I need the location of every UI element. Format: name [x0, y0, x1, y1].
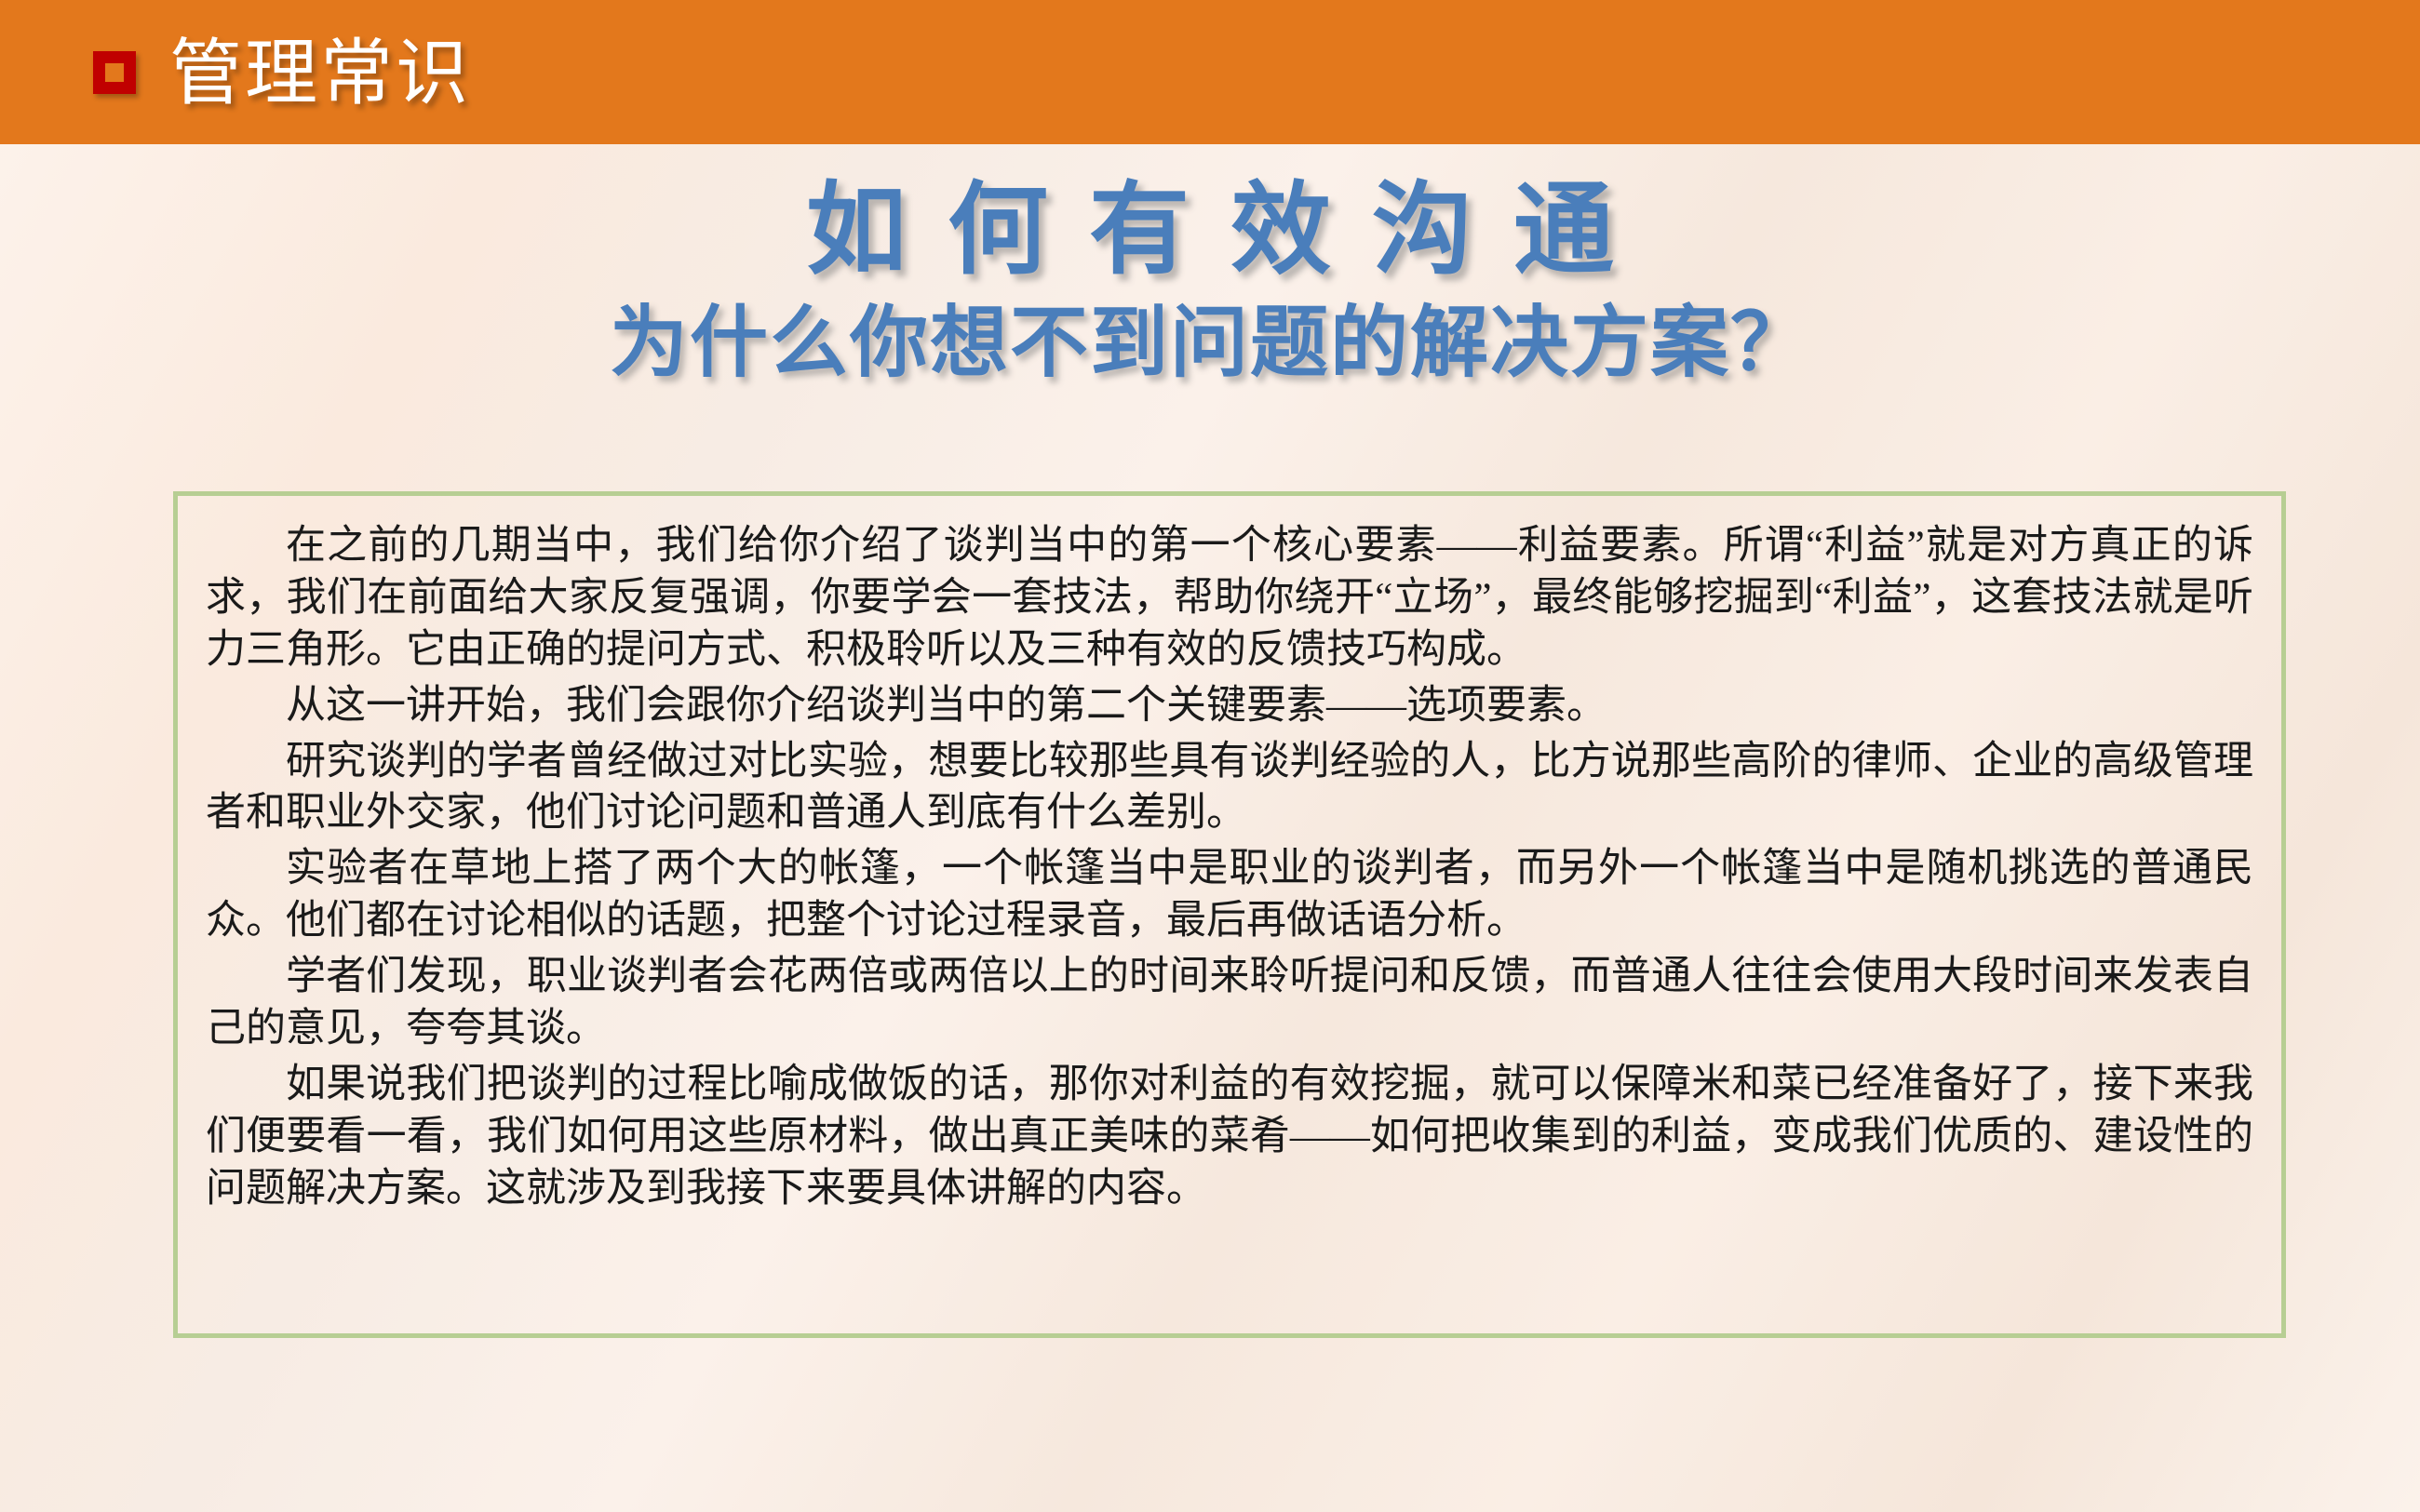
red-square-bullet-icon	[93, 51, 136, 94]
slide: 管理常识 如何有效沟通 为什么你想不到问题的解决方案？ 在之前的几期当中，我们给…	[0, 0, 2420, 1512]
page-title: 如何有效沟通	[0, 172, 2420, 290]
paragraph: 如果说我们把谈判的过程比喻成做饭的话，那你对利益的有效挖掘，就可以保障米和菜已经…	[206, 1059, 2253, 1215]
content-box: 在之前的几期当中，我们给你介绍了谈判当中的第一个核心要素——利益要素。所谓“利益…	[173, 491, 2286, 1338]
title-block: 如何有效沟通 为什么你想不到问题的解决方案？	[0, 172, 2420, 390]
page-subtitle: 为什么你想不到问题的解决方案？	[0, 296, 2420, 390]
header-inner: 管理常识	[93, 0, 471, 144]
paragraph: 在之前的几期当中，我们给你介绍了谈判当中的第一个核心要素——利益要素。所谓“利益…	[206, 520, 2253, 676]
paragraph: 学者们发现，职业谈判者会花两倍或两倍以上的时间来聆听提问和反馈，而普通人往往会使…	[206, 951, 2253, 1055]
paragraph: 实验者在草地上搭了两个大的帐篷，一个帐篷当中是职业的谈判者，而另外一个帐篷当中是…	[206, 843, 2253, 947]
header-bar: 管理常识	[0, 0, 2420, 144]
header-title: 管理常识	[169, 36, 471, 109]
paragraph: 研究谈判的学者曾经做过对比实验，想要比较那些具有谈判经验的人，比方说那些高阶的律…	[206, 736, 2253, 840]
footer: 山东大成生物化工有限公司	[0, 1360, 2420, 1512]
paragraph: 从这一讲开始，我们会跟你介绍谈判当中的第二个关键要素——选项要素。	[206, 680, 2253, 732]
